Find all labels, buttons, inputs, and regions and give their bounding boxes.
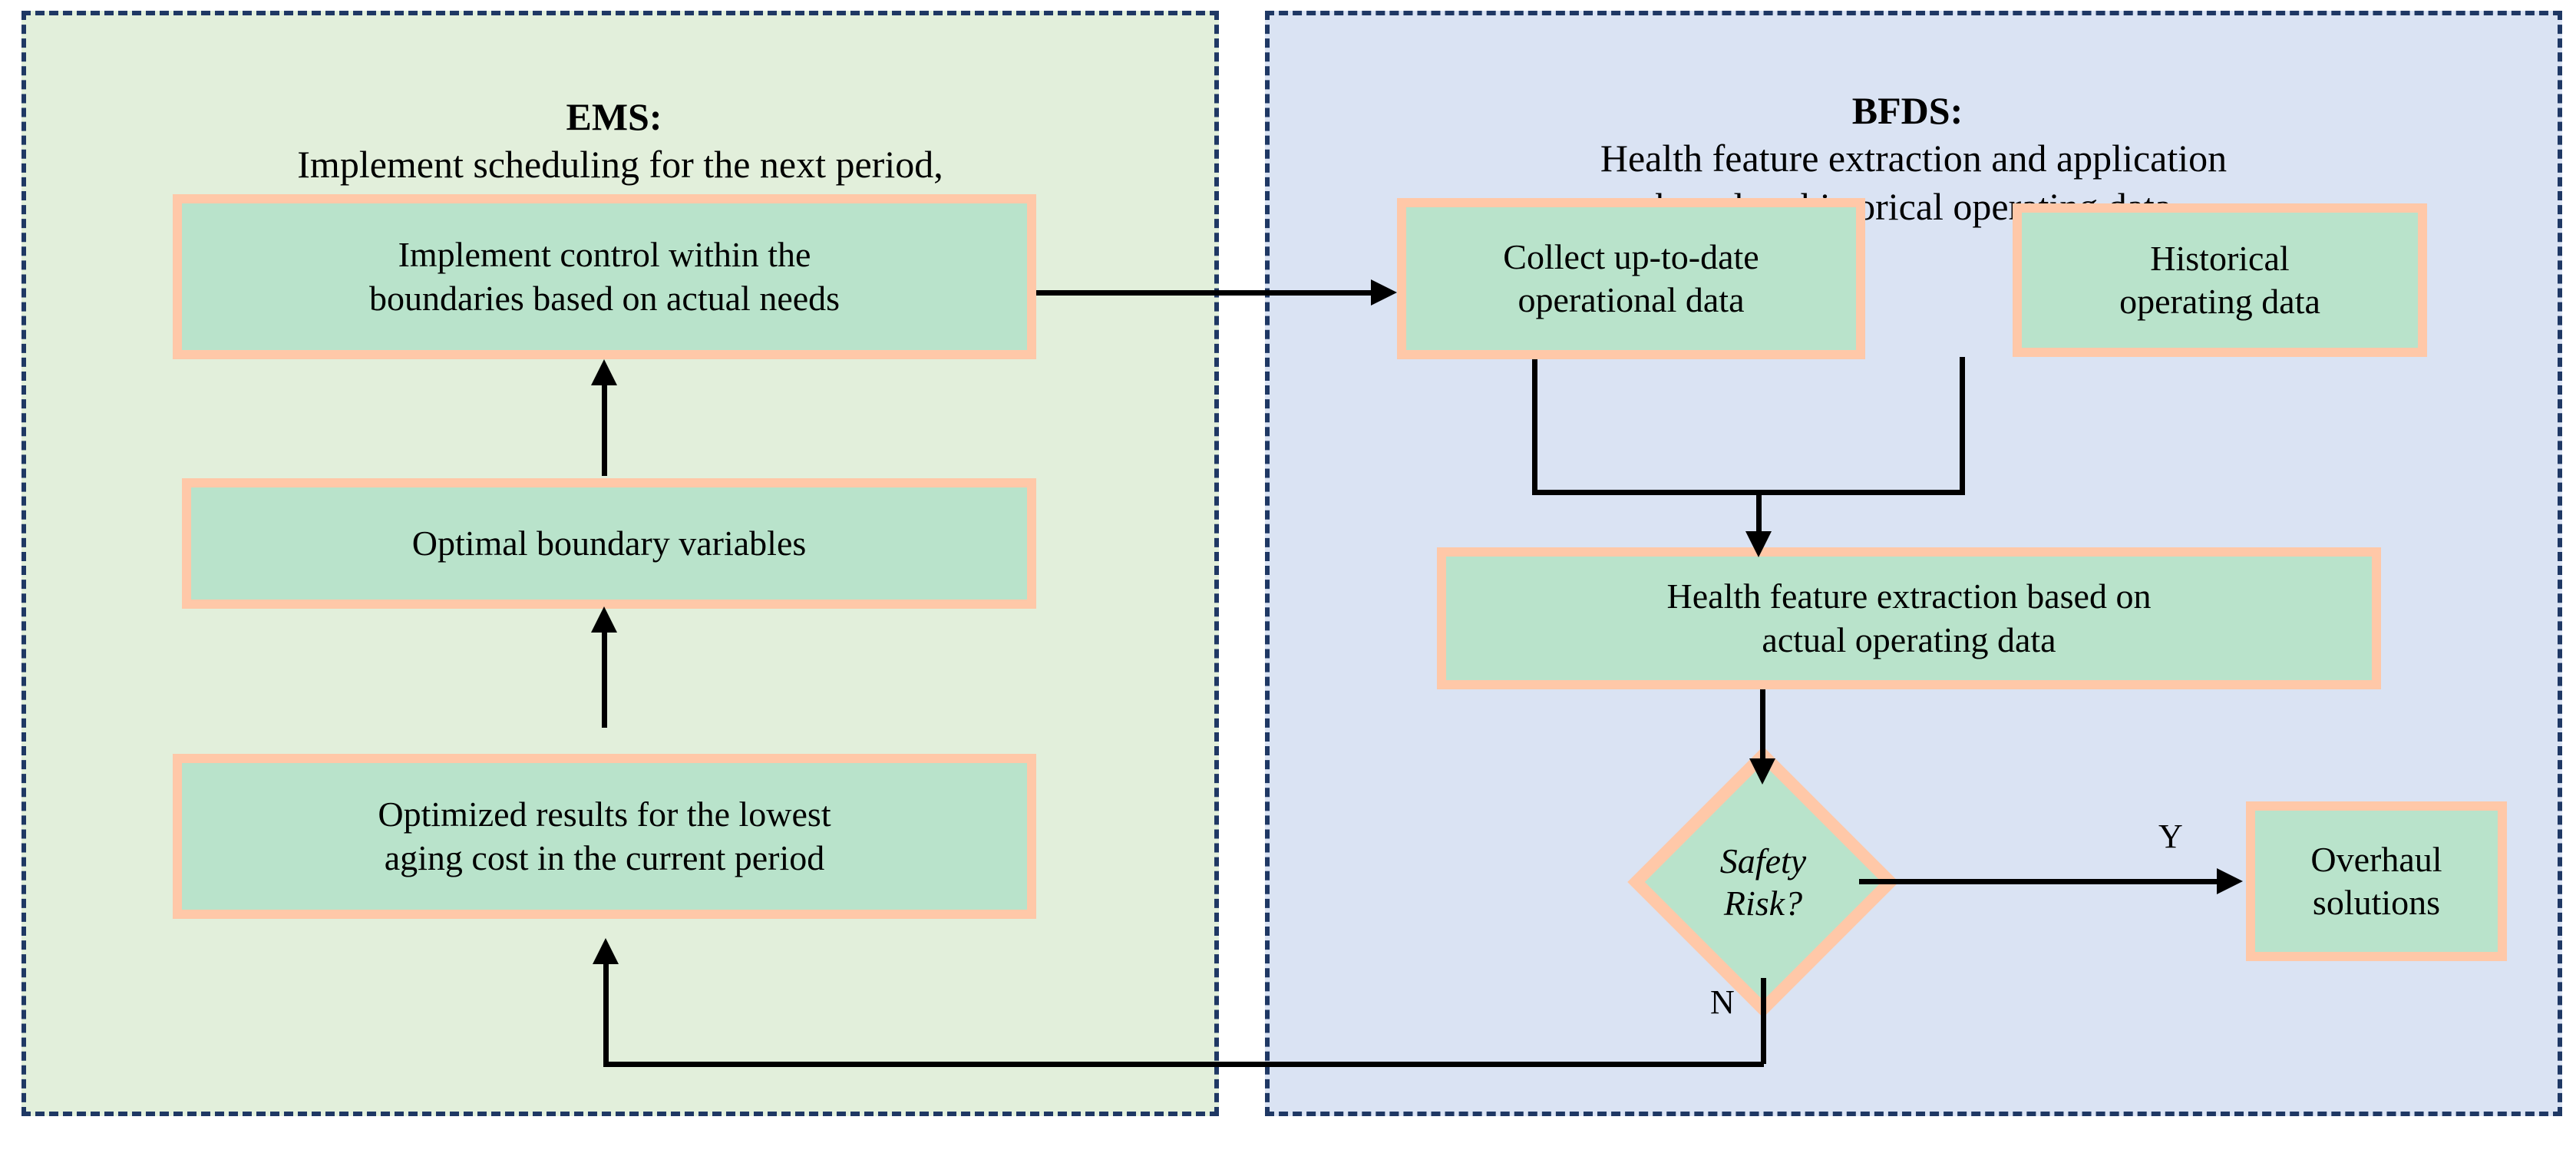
node-historical-operating-data[interactable]: Historical operating data <box>2013 203 2427 357</box>
arrowhead-feedback-to-results <box>593 938 619 964</box>
node-optimized-results[interactable]: Optimized results for the lowest aging c… <box>173 754 1036 919</box>
connector-feedback-up <box>603 962 609 1065</box>
connector-collect-down <box>1532 359 1537 490</box>
connector-historical-down <box>1960 357 1965 490</box>
node-overhaul-solutions[interactable]: Overhaul solutions <box>2246 801 2507 961</box>
node-optimal-boundary-variables[interactable]: Optimal boundary variables <box>182 478 1036 609</box>
arrowhead-merge-to-health <box>1745 531 1772 557</box>
diamond-label: Safety Risk? <box>1667 786 1859 978</box>
arrowhead-results-to-boundary <box>591 606 617 633</box>
connector-decision-to-overhaul <box>1859 879 2220 884</box>
connector-control-to-collect <box>1036 290 1374 296</box>
node-collect-operational-data[interactable]: Collect up-to-date operational data <box>1397 198 1865 359</box>
arrowhead-boundary-to-control <box>591 359 617 385</box>
panel-ems-tag: EMS: <box>566 95 662 138</box>
connector-health-to-decision <box>1760 689 1765 763</box>
node-implement-control[interactable]: Implement control within the boundaries … <box>173 194 1036 359</box>
edge-label-no: N <box>1710 986 1735 1019</box>
connector-merge-to-health <box>1756 490 1762 536</box>
connector-decision-down <box>1761 978 1766 1064</box>
connector-feedback-horizontal <box>603 1062 1764 1067</box>
arrowhead-health-to-decision <box>1749 758 1775 785</box>
connector-merge-bar <box>1532 490 1965 495</box>
edge-label-yes: Y <box>2158 820 2183 854</box>
panel-bfds-tag: BFDS: <box>1852 89 1963 132</box>
flowchart-canvas: EMS: Implement scheduling for the next p… <box>0 0 2576 1153</box>
arrowhead-control-to-collect <box>1371 279 1397 306</box>
node-safety-risk-decision[interactable]: Safety Risk? <box>1667 786 1859 978</box>
arrowhead-decision-to-overhaul <box>2217 868 2243 894</box>
node-health-feature-extraction[interactable]: Health feature extraction based on actua… <box>1437 547 2381 689</box>
